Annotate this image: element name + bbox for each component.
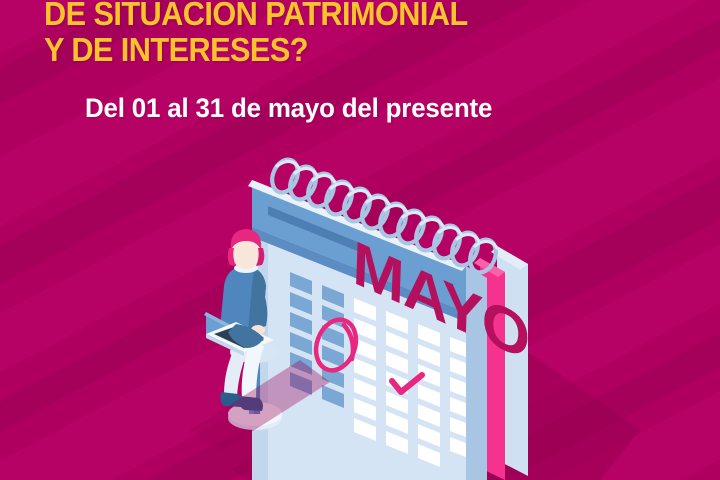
- calendar-illustration: MAYO: [0, 0, 720, 480]
- headline-line-2: Y DE INTERESES?: [44, 32, 658, 68]
- subtitle-mid: al: [160, 93, 195, 123]
- subtitle-day-end: 31: [195, 93, 223, 123]
- headline-line-1: DE SITUACIÓN PATRIMONIAL: [44, 0, 658, 32]
- subtitle-prefix: Del: [85, 93, 132, 123]
- subtitle-suffix: de mayo del presente: [224, 93, 492, 123]
- headline-block: DE SITUACIÓN PATRIMONIAL Y DE INTERESES?: [44, 0, 704, 68]
- subtitle-line: Del 01 al 31 de mayo del presente: [85, 92, 492, 124]
- subtitle-day-start: 01: [132, 93, 160, 123]
- poster-canvas: MAYO: [0, 0, 720, 480]
